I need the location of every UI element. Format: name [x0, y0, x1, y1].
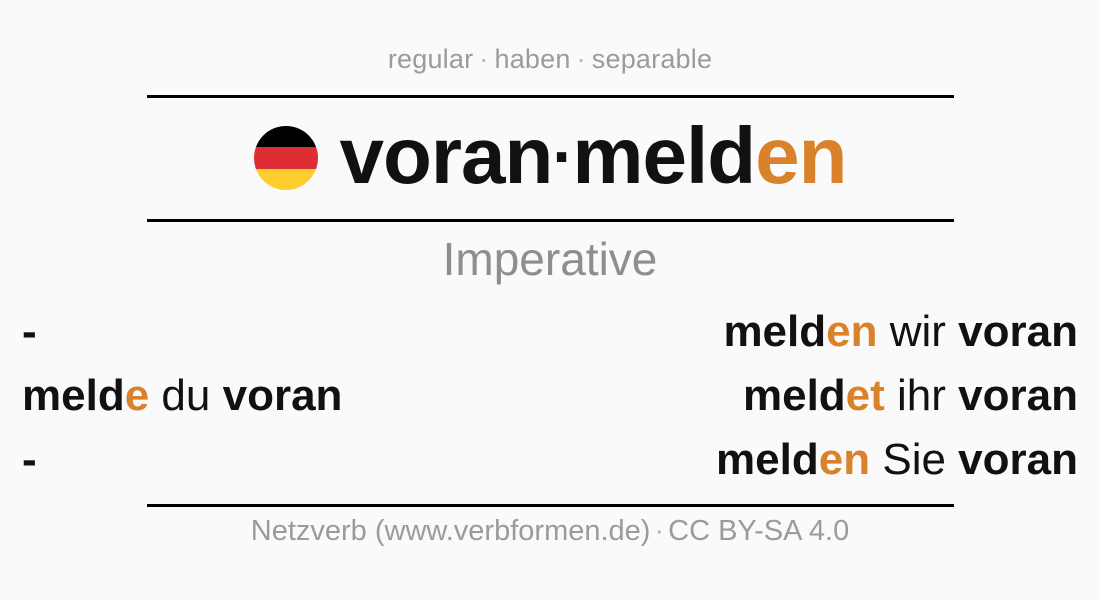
- form-ending: et: [846, 371, 885, 420]
- form-ending: en: [826, 307, 877, 356]
- verb-title: voran·melden: [147, 102, 954, 210]
- verb-prefix: voran: [340, 111, 553, 200]
- flag-band-red: [254, 147, 318, 168]
- attribute-separability: separable: [592, 44, 712, 74]
- form-ending: en: [819, 435, 870, 484]
- form-pronoun: ihr: [885, 371, 958, 420]
- form-particle: voran: [223, 371, 343, 420]
- verb-prefix-separator: ·: [552, 119, 572, 193]
- conjugation-cell-left: melde du voran: [0, 364, 528, 428]
- form-stem: meld: [743, 371, 846, 420]
- attribute-separator-2: ·: [571, 44, 592, 74]
- empty-form-dash: -: [22, 435, 37, 484]
- form-pronoun: wir: [878, 307, 959, 356]
- divider-top: [147, 95, 954, 98]
- flag-band-gold: [254, 169, 318, 190]
- verb-conjugation-card: regular·haben·separable voran·melden Imp…: [0, 0, 1100, 600]
- empty-form-dash: -: [22, 307, 37, 356]
- verb-title-text: voran·melden: [340, 116, 847, 196]
- conjugation-cell-right: melden wir voran: [528, 300, 1100, 364]
- footer-separator: ·: [650, 515, 668, 547]
- form-pronoun: du: [149, 371, 222, 420]
- table-row: - melden Sie voran: [0, 428, 1100, 492]
- form-stem: meld: [22, 371, 125, 420]
- table-row: - melden wir voran: [0, 300, 1100, 364]
- footer-attribution: Netzverb (www.verbformen.de)·CC BY-SA 4.…: [251, 517, 849, 546]
- form-particle: voran: [958, 307, 1078, 356]
- footer-license: CC BY-SA 4.0: [668, 515, 849, 547]
- conjugation-cell-right: meldet ihr voran: [528, 364, 1100, 428]
- form-particle: voran: [958, 435, 1078, 484]
- verb-attributes: regular·haben·separable: [388, 46, 712, 73]
- form-stem: meld: [723, 307, 826, 356]
- form-pronoun: Sie: [870, 435, 958, 484]
- conjugation-table: - melden wir voran melde du voran meldet…: [0, 300, 1100, 492]
- divider-bottom: [147, 504, 954, 507]
- form-stem: meld: [716, 435, 819, 484]
- divider-middle: [147, 219, 954, 222]
- attribute-regularity: regular: [388, 44, 473, 74]
- conjugation-cell-left: -: [0, 428, 528, 492]
- attribute-auxiliary: haben: [494, 44, 570, 74]
- flag-band-black: [254, 126, 318, 147]
- form-ending: e: [125, 371, 149, 420]
- verb-ending: en: [755, 111, 846, 200]
- table-row: melde du voran meldet ihr voran: [0, 364, 1100, 428]
- attribute-separator-1: ·: [473, 44, 494, 74]
- footer-source: Netzverb (www.verbformen.de): [251, 515, 651, 547]
- conjugation-cell-right: melden Sie voran: [528, 428, 1100, 492]
- verb-stem: meld: [572, 111, 755, 200]
- page-title: Imperative: [443, 236, 658, 282]
- conjugation-cell-left: -: [0, 300, 528, 364]
- form-particle: voran: [958, 371, 1078, 420]
- german-flag-icon: [254, 126, 318, 190]
